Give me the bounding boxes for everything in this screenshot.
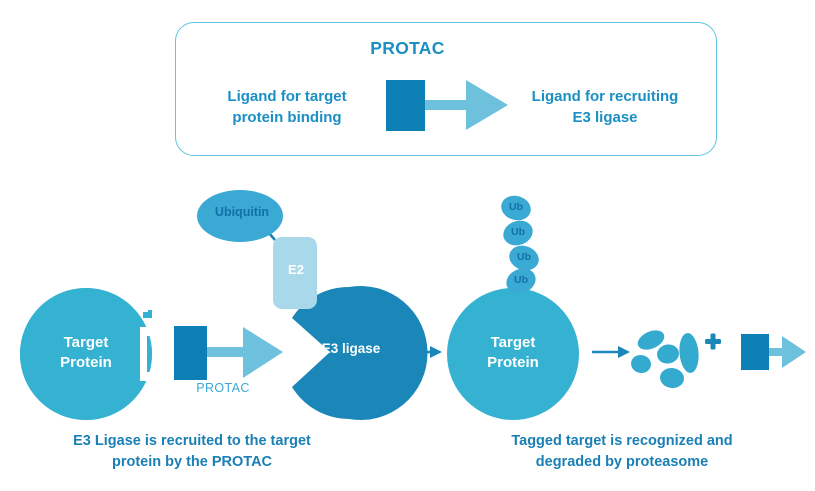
center-protac-triangle-icon <box>243 327 283 378</box>
target-protein-1-circle <box>20 288 152 420</box>
caption-left-line2: protein by the PROTAC <box>22 452 362 473</box>
plus-sign-icon <box>705 334 721 350</box>
ub-label-4: Ub <box>509 274 533 286</box>
diagram-vector-layer <box>0 0 815 491</box>
released-protac-icon <box>741 334 806 370</box>
degraded-fragments-group <box>629 327 700 390</box>
caption-right-line1: Tagged target is recognized and <box>452 431 792 452</box>
legend-protac-square-icon <box>386 80 425 131</box>
released-protac-square-icon <box>741 334 769 370</box>
center-protac-linker-icon <box>207 347 249 357</box>
released-protac-triangle-icon <box>782 336 806 368</box>
connector-arrow-2 <box>592 346 630 358</box>
legend-protac-icon <box>386 80 508 131</box>
caption-right: Tagged target is recognized and degraded… <box>452 431 792 473</box>
caption-left: E3 Ligase is recruited to the target pro… <box>22 431 362 473</box>
diagram-canvas: PROTAC Ligand for target protein binding… <box>0 0 815 491</box>
legend-protac-triangle-icon <box>466 80 508 130</box>
fragment-5 <box>678 332 700 374</box>
target-protein-2-circle <box>447 288 579 420</box>
fragment-4 <box>659 366 686 389</box>
fragment-3 <box>656 343 681 366</box>
caption-left-line1: E3 Ligase is recruited to the target <box>22 431 362 452</box>
fragment-2 <box>629 353 652 375</box>
caption-right-line2: degraded by proteasome <box>452 452 792 473</box>
center-protac-icon <box>174 326 283 380</box>
ub-label-3: Ub <box>512 251 536 263</box>
ub-label-2: Ub <box>506 226 530 238</box>
e2-enzyme-shape <box>273 237 317 309</box>
center-protac-square-icon <box>174 326 207 380</box>
target-protein-1-shape <box>20 288 156 420</box>
ubiquitin-oval-shape <box>197 190 283 242</box>
ub-label-1: Ub <box>504 201 528 213</box>
